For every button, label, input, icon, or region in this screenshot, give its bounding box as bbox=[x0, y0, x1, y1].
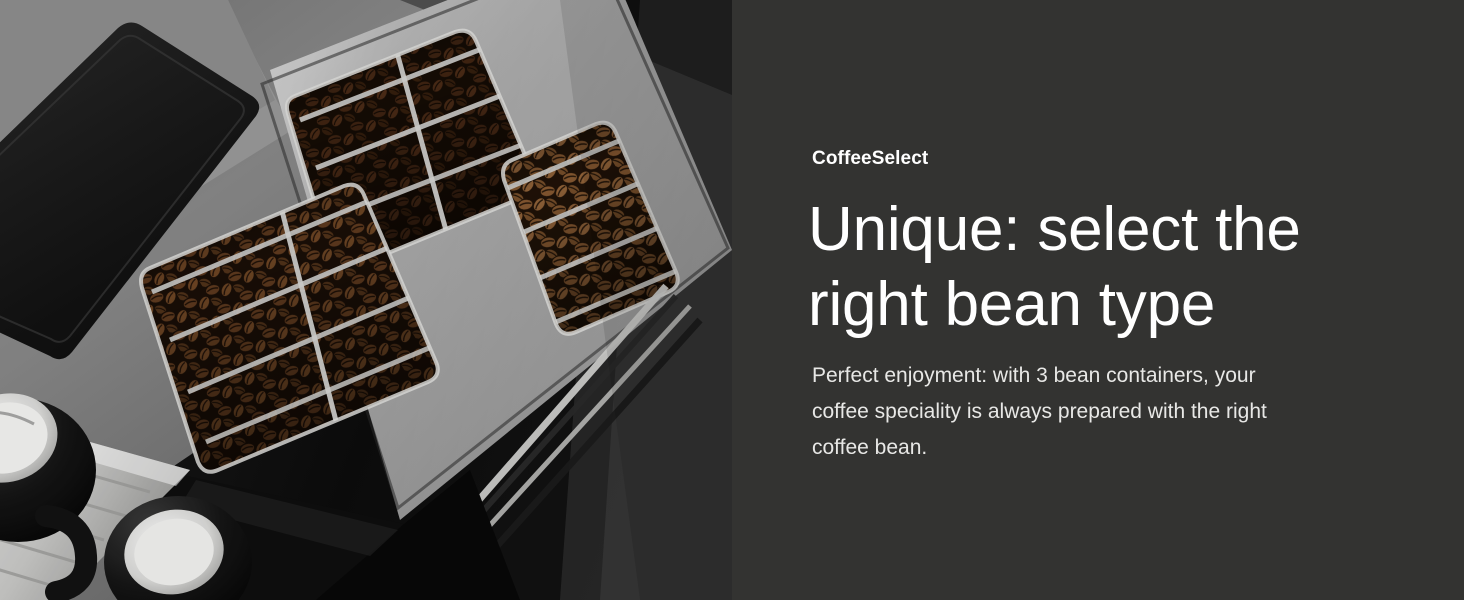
body-line-3: coffee bean. bbox=[812, 430, 1372, 466]
text-panel-inner: CoffeeSelect Unique: select the right be… bbox=[812, 0, 1412, 600]
feature-eyebrow-label: CoffeeSelect bbox=[812, 146, 928, 172]
headline-line-1: Unique: select the bbox=[808, 192, 1368, 267]
body-line-2: coffee speciality is always prepared wit… bbox=[812, 394, 1372, 430]
feature-description: Perfect enjoyment: with 3 bean container… bbox=[812, 358, 1372, 466]
headline-line-2: right bean type bbox=[808, 267, 1368, 342]
text-panel: CoffeeSelect Unique: select the right be… bbox=[732, 0, 1464, 600]
product-photo bbox=[0, 0, 732, 600]
page-title: Unique: select the right bean type bbox=[808, 192, 1368, 342]
coffee-select-feature-banner: CoffeeSelect Unique: select the right be… bbox=[0, 0, 1464, 600]
body-line-1: Perfect enjoyment: with 3 bean container… bbox=[812, 358, 1372, 394]
coffee-machine-illustration bbox=[0, 0, 732, 600]
